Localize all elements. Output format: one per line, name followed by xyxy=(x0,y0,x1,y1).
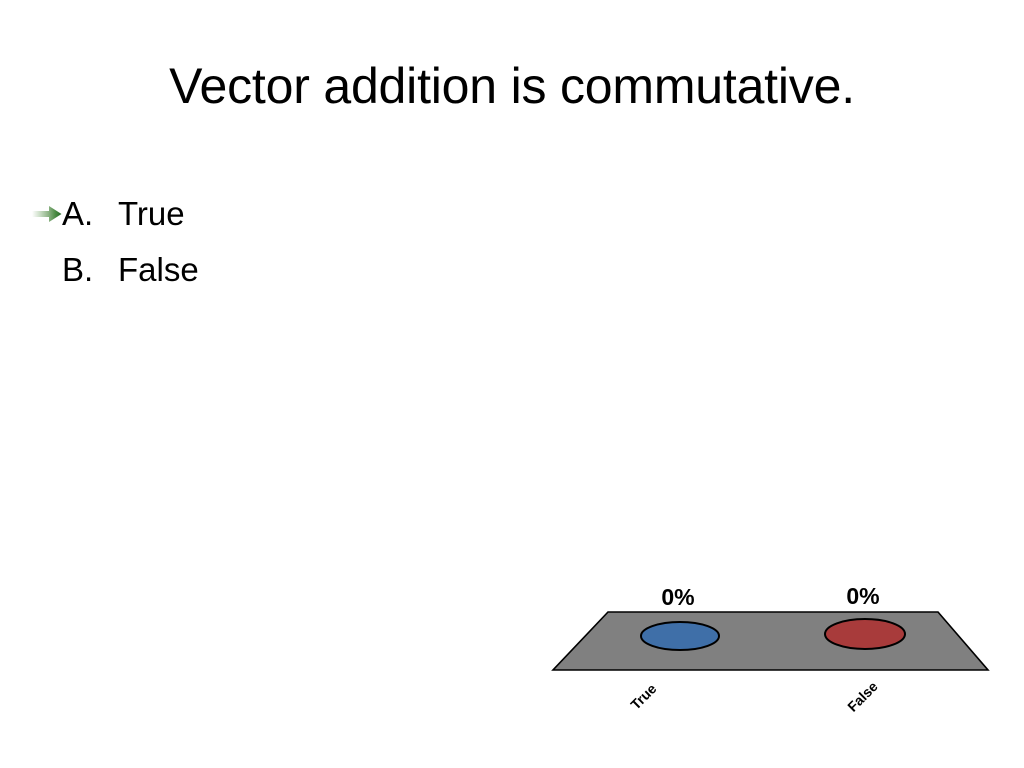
chart-bar-true xyxy=(641,622,719,650)
chart-floor-plane xyxy=(553,612,988,670)
answer-option-a-label: True xyxy=(118,195,185,233)
answer-option-a[interactable]: A. True xyxy=(30,186,550,242)
chart-bar-false xyxy=(825,619,905,649)
answer-option-list: A. True B. False xyxy=(30,186,550,298)
answer-option-b-letter: B. xyxy=(62,251,118,289)
answer-option-a-letter: A. xyxy=(62,195,118,233)
chart-category-label-true: True xyxy=(627,680,659,712)
chart-category-label-false: False xyxy=(844,678,881,715)
answer-option-b[interactable]: B. False xyxy=(30,242,550,298)
chart-value-label-true: 0% xyxy=(661,584,694,610)
poll-results-chart: 0% 0% True False xyxy=(540,572,1010,724)
slide-canvas: Vector addition is commutative. xyxy=(0,0,1024,768)
page-title: Vector addition is commutative. xyxy=(60,58,964,114)
chart-value-label-false: 0% xyxy=(846,583,879,609)
green-arrow-icon xyxy=(32,206,62,223)
answer-option-b-label: False xyxy=(118,251,199,289)
